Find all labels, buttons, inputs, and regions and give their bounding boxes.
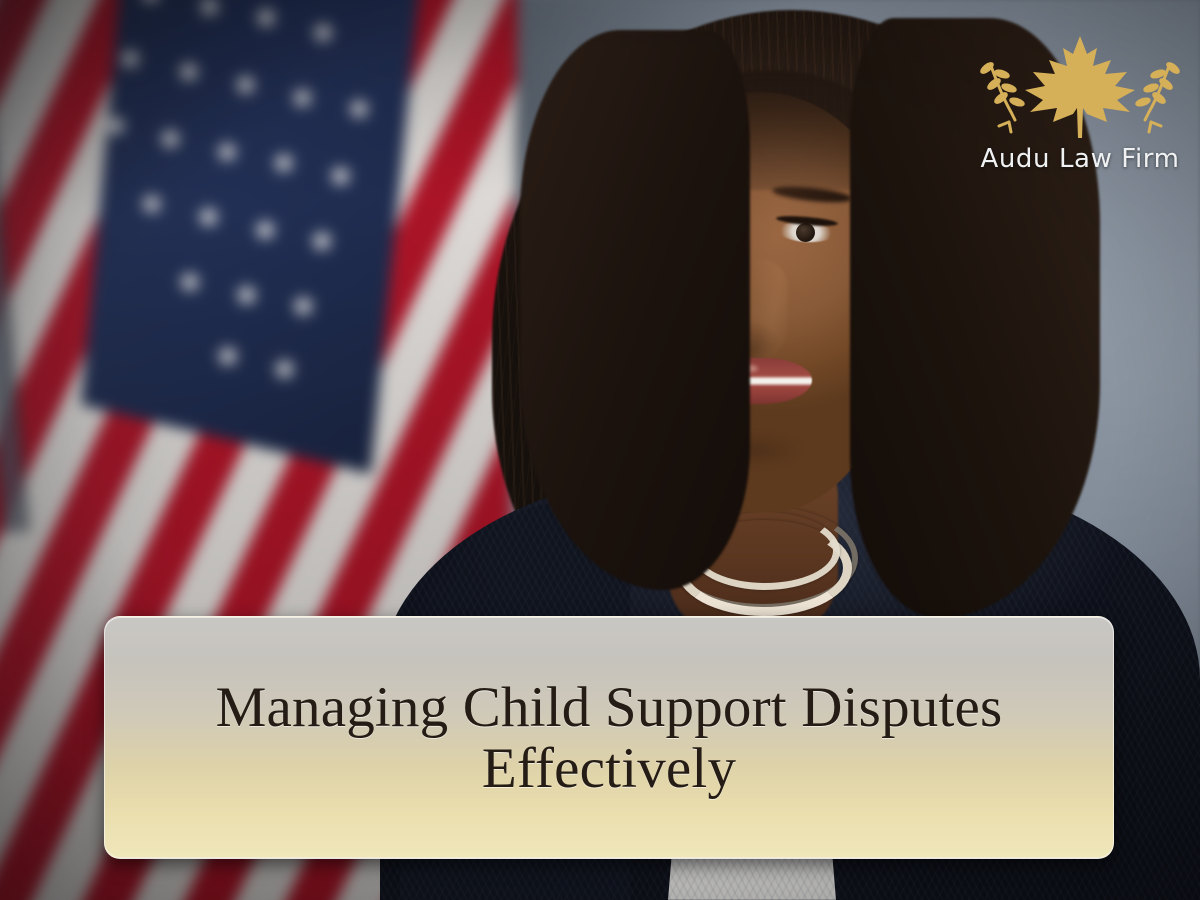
laurel-leaves-right (1134, 60, 1182, 108)
page-title: Managing Child Support Disputes Effectiv… (216, 677, 1003, 799)
brand-name: Audu Law Firm (975, 144, 1185, 174)
title-line-1: Managing Child Support Disputes (216, 676, 1003, 739)
hair-front-left (520, 30, 750, 590)
title-line-2: Effectively (216, 738, 1003, 799)
header-graphic: Audu Law Firm Managing Child Support Dis… (0, 0, 1200, 900)
maple-leaf-icon (1025, 36, 1135, 138)
brand-logo[interactable]: Audu Law Firm (975, 30, 1185, 195)
laurel-leaves-left (978, 60, 1026, 108)
logo-mark (975, 30, 1185, 142)
iris-right (796, 223, 815, 242)
title-banner: Managing Child Support Disputes Effectiv… (104, 616, 1114, 859)
